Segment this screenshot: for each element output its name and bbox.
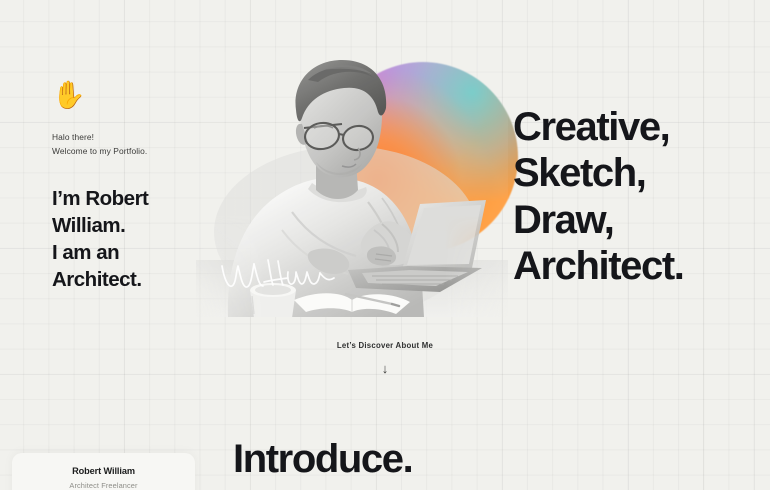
hero-right-column: Creative, Sketch, Draw, Architect. bbox=[513, 104, 684, 290]
tagline-line-3: Draw, bbox=[513, 197, 684, 243]
discover-cta[interactable]: Let’s Discover About Me ↓ bbox=[0, 341, 770, 378]
hero-tagline-heading: Creative, Sketch, Draw, Architect. bbox=[513, 104, 684, 290]
arrow-down-icon[interactable]: ↓ bbox=[382, 362, 389, 375]
portrait-photo bbox=[196, 52, 508, 317]
tagline-line-4: Architect. bbox=[513, 243, 684, 289]
tagline-line-2: Sketch, bbox=[513, 150, 684, 196]
hero-section: ✋ Halo there! Welcome to my Portfolio. I… bbox=[0, 0, 770, 420]
discover-label[interactable]: Let’s Discover About Me bbox=[0, 341, 770, 350]
tagline-line-1: Creative, bbox=[513, 104, 684, 150]
hero-artwork bbox=[196, 52, 508, 317]
introduce-heading: Introduce. bbox=[233, 437, 412, 481]
profile-card[interactable]: Robert William Architect Freelancer bbox=[12, 453, 195, 490]
profile-card-name: Robert William bbox=[12, 466, 195, 476]
profile-card-role: Architect Freelancer bbox=[12, 481, 195, 490]
